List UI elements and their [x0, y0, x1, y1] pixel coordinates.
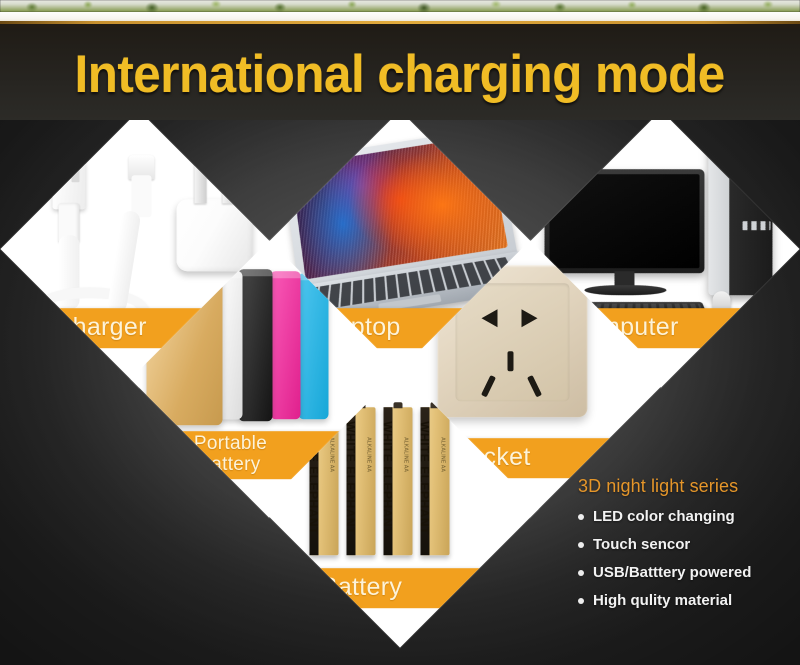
socket-slot-right: [522, 309, 538, 327]
feature-heading: 3D night light series: [578, 476, 792, 497]
aa-battery-4: WHITE ELEPHANT ALKALINE AA: [421, 407, 450, 555]
label-text: Portable battery: [194, 434, 267, 476]
tower-ports: [743, 221, 771, 230]
socket-slot-earth: [508, 351, 514, 371]
feature-text: LED color changing: [593, 508, 735, 525]
diamond-label-battery: Battery: [261, 568, 521, 608]
usb-connector-icon: [52, 159, 85, 209]
lightning-connector-body: [132, 175, 152, 217]
battery-subtext: ALKALINE AA: [329, 437, 335, 497]
aa-battery-3: WHITE ELEPHANT ALKALINE AA: [384, 407, 413, 555]
label-text: Charger: [54, 315, 146, 341]
feature-text: USB/Batttery powered: [593, 564, 751, 581]
bullet-icon: [578, 570, 584, 576]
aa-battery-2: WHITE ELEPHANT ALKALINE AA: [347, 407, 376, 555]
battery-subtext: ALKALINE AA: [440, 437, 446, 497]
socket-slot-live: [481, 374, 496, 396]
battery-brand-label: WHITE ELEPHANT: [344, 421, 358, 541]
feature-item: LED color changing: [578, 508, 792, 525]
feature-panel: 3D night light series LED color changing…: [578, 476, 792, 620]
battery-subtext: ALKALINE AA: [366, 437, 372, 497]
battery-brand-label: WHITE ELEPHANT: [381, 421, 395, 541]
bullet-icon: [578, 542, 584, 548]
monitor-stand-neck: [615, 271, 635, 287]
title-bar: International charging mode: [0, 28, 800, 120]
bullet-icon: [578, 514, 584, 520]
power-bank-pink: [271, 271, 301, 419]
feature-text: High qulity material: [593, 592, 732, 609]
page-title: International charging mode: [75, 48, 725, 101]
adapter-pin-left: [195, 163, 207, 203]
adapter-pin-right: [223, 163, 235, 203]
wall-adapter-icon: [177, 199, 253, 271]
feature-list: LED color changing Touch sencor USB/Batt…: [578, 508, 792, 609]
battery-subtext: ALKALINE AA: [403, 437, 409, 497]
monitor-screen: [550, 174, 700, 268]
bullet-icon: [578, 598, 584, 604]
feature-item: USB/Batttery powered: [578, 564, 792, 581]
socket-face: [456, 283, 570, 401]
power-bank-black: [239, 269, 273, 421]
socket-slot-left: [482, 309, 498, 327]
label-text: Battery: [321, 575, 402, 601]
feature-item: Touch sencor: [578, 536, 792, 553]
monitor-icon: [545, 169, 705, 273]
pc-tower-icon: [709, 143, 773, 295]
battery-brand-label: WHITE ELEPHANT: [418, 421, 432, 541]
feature-text: Touch sencor: [593, 536, 690, 553]
feature-item: High qulity material: [578, 592, 792, 609]
socket-slot-neutral: [527, 374, 542, 396]
product-poster: International charging mode Charger: [0, 0, 800, 665]
monitor-stand-base: [585, 285, 667, 295]
